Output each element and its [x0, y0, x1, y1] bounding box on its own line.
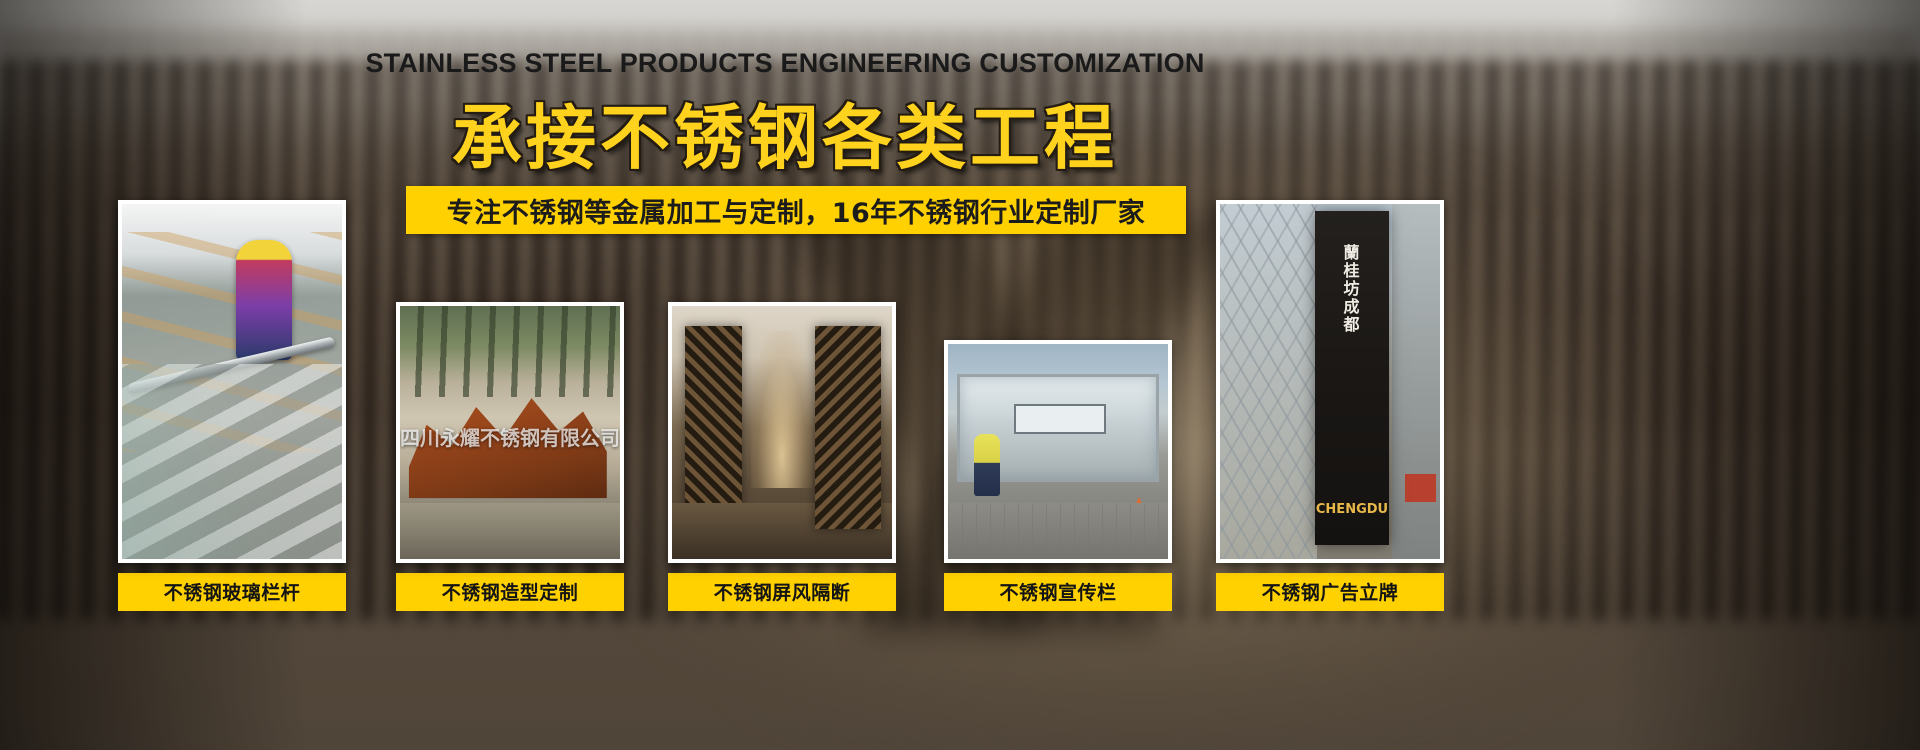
photo-frame — [118, 200, 346, 563]
adjacent-building — [1392, 204, 1440, 559]
interior-floor — [672, 503, 892, 559]
interior-light-wall — [751, 331, 813, 488]
photo-frame: 四川永耀不锈钢有限公司 — [396, 302, 624, 563]
product-card-screen-partition[interactable]: 不锈钢屏风隔断 — [668, 302, 896, 611]
signage-tower-sub-text: CHENGDU — [1315, 503, 1390, 518]
stainless-steel-bulletin-board-photo — [948, 344, 1168, 559]
stainless-steel-glass-railing-photo — [122, 204, 342, 559]
photo-frame — [944, 340, 1172, 563]
product-caption: 不锈钢广告立牌 — [1216, 573, 1444, 611]
product-caption: 不锈钢玻璃栏杆 — [118, 573, 346, 611]
product-card-sculpture[interactable]: 四川永耀不锈钢有限公司 不锈钢造型定制 — [396, 302, 624, 611]
product-caption: 不锈钢屏风隔断 — [668, 573, 896, 611]
signage-tower-main-text: 蘭桂坊成都 — [1315, 244, 1390, 334]
product-caption: 不锈钢造型定制 — [396, 573, 624, 611]
product-card-advertising-sign[interactable]: 蘭桂坊成都 CHENGDU 不锈钢广告立牌 — [1216, 200, 1444, 611]
photo-frame — [668, 302, 896, 563]
product-card-glass-railing[interactable]: 不锈钢玻璃栏杆 — [118, 200, 346, 611]
tree-line — [400, 306, 620, 397]
product-caption: 不锈钢宣传栏 — [944, 573, 1172, 611]
company-watermark: 四川永耀不锈钢有限公司 — [400, 422, 620, 451]
stainless-steel-advertising-sign-photo: 蘭桂坊成都 CHENGDU — [1220, 204, 1440, 559]
photo-frame: 蘭桂坊成都 CHENGDU — [1216, 200, 1444, 563]
stainless-steel-sculpture-photo: 四川永耀不锈钢有限公司 — [400, 306, 620, 559]
traffic-cone — [1128, 497, 1150, 525]
red-storefront-sign — [1405, 474, 1436, 502]
railing-handrail — [128, 337, 336, 394]
worker-figure — [236, 240, 292, 360]
worker-figure — [974, 434, 1000, 496]
product-gallery: 不锈钢玻璃栏杆 四川永耀不锈钢有限公司 不锈钢造型定制 不锈钢屏风隔断 — [0, 0, 1570, 750]
signage-tower: 蘭桂坊成都 CHENGDU — [1315, 211, 1390, 545]
promotional-banner: STAINLESS STEEL PRODUCTS ENGINEERING CUS… — [0, 0, 1920, 750]
stainless-steel-screen-partition-photo — [672, 306, 892, 559]
product-card-bulletin-board[interactable]: 不锈钢宣传栏 — [944, 340, 1172, 611]
bulletin-panel — [1014, 404, 1106, 434]
